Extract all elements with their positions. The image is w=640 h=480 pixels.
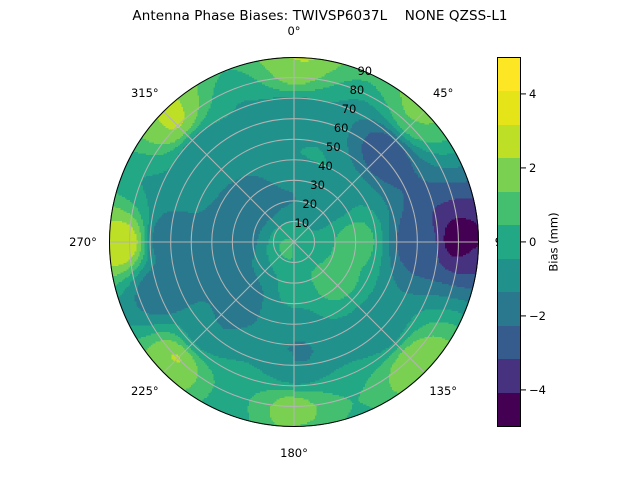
chart-title: Antenna Phase Biases: TWIVSP6037L NONE Q…	[0, 8, 640, 24]
colorbar[interactable]: −4−2024	[497, 57, 521, 427]
angular-tick-label: 0°	[287, 24, 300, 38]
colorbar-band	[498, 393, 520, 426]
radial-tick-label: 30	[310, 178, 325, 192]
colorbar-axis-label: Bias (mm)	[545, 57, 563, 427]
colorbar-band	[498, 58, 520, 91]
radial-tick-label: 40	[318, 159, 333, 173]
polar-contour-surface	[109, 57, 479, 427]
contour-layer	[109, 57, 479, 427]
angular-tick-label: 45°	[433, 86, 453, 100]
angular-tick-label: 315°	[131, 86, 159, 100]
colorbar-band	[498, 91, 520, 124]
figure-canvas: Antenna Phase Biases: TWIVSP6037L NONE Q…	[0, 0, 640, 480]
colorbar-band	[498, 125, 520, 158]
radial-tick-label: 90	[357, 64, 372, 78]
colorbar-band	[498, 359, 520, 392]
radial-tick-label: 10	[295, 216, 310, 230]
colorbar-gradient	[497, 57, 521, 427]
radial-tick-label: 60	[334, 121, 349, 135]
angular-tick-label: 270°	[69, 235, 97, 249]
colorbar-tick-label: −2	[529, 309, 546, 323]
colorbar-tick-label: 4	[529, 87, 536, 101]
angular-tick-label: 180°	[280, 446, 308, 460]
radial-tick-label: 70	[342, 102, 357, 116]
colorbar-tick-label: 2	[529, 161, 536, 175]
colorbar-band	[498, 192, 520, 225]
colorbar-tick	[521, 167, 526, 168]
colorbar-label-text: Bias (mm)	[547, 212, 561, 271]
polar-axes[interactable]	[109, 57, 479, 427]
colorbar-band	[498, 259, 520, 292]
radial-tick-label: 80	[350, 83, 365, 97]
colorbar-tick	[521, 315, 526, 316]
radial-tick-label: 20	[302, 197, 317, 211]
colorbar-band	[498, 225, 520, 258]
colorbar-tick	[521, 93, 526, 94]
colorbar-tick-label: 0	[529, 235, 536, 249]
polar-gridlines	[109, 57, 479, 427]
colorbar-band	[498, 158, 520, 191]
angular-tick-label: 135°	[429, 384, 457, 398]
colorbar-band	[498, 292, 520, 325]
colorbar-tick	[521, 241, 526, 242]
angular-tick-label: 225°	[131, 384, 159, 398]
radial-tick-label: 50	[326, 140, 341, 154]
colorbar-tick-label: −4	[529, 383, 546, 397]
colorbar-tick	[521, 389, 526, 390]
colorbar-band	[498, 326, 520, 359]
